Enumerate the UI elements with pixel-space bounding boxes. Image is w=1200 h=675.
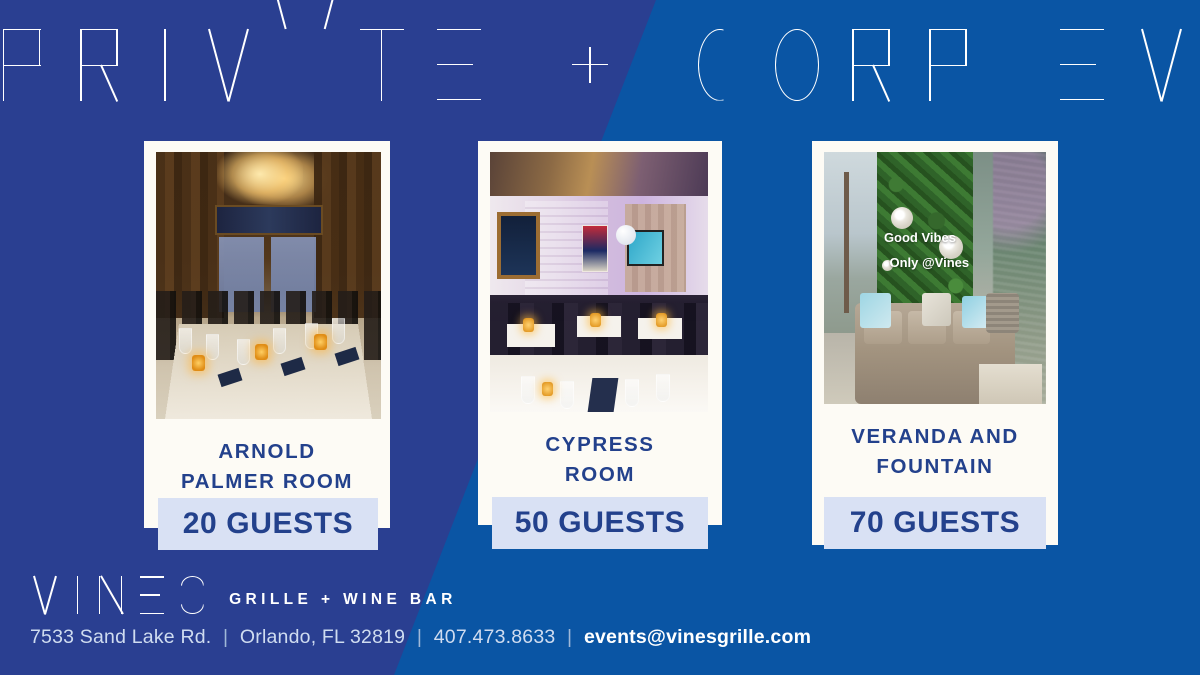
- room-name-line2: ROOM: [478, 460, 722, 490]
- room-card[interactable]: ARNOLD PALMER ROOM: [144, 141, 390, 528]
- page-title: [0, 24, 1200, 101]
- logo-glyph-N: [99, 576, 124, 614]
- room-name-line2: PALMER ROOM: [144, 467, 390, 497]
- title-glyph-T: [360, 29, 406, 101]
- title-glyph-A: [282, 29, 328, 101]
- room-name: VERANDA AND FOUNTAIN: [812, 422, 1058, 483]
- title-glyph-C: [697, 29, 743, 101]
- brand-lockup: GRILLE + WINE BAR: [30, 576, 811, 614]
- street-address: 7533 Sand Lake Rd.: [30, 626, 211, 648]
- arnold-palmer-room-photo: [156, 152, 381, 419]
- title-glyph-R: [80, 29, 126, 101]
- logo-glyph-S: [181, 576, 206, 614]
- title-glyph-O: [774, 29, 820, 101]
- room-name: CYPRESS ROOM: [478, 430, 722, 491]
- room-cards: ARNOLD PALMER ROOM 20 GUESTS: [0, 0, 1200, 675]
- room-name: ARNOLD PALMER ROOM: [144, 437, 390, 498]
- title-glyph-plus: [568, 29, 612, 101]
- veranda-and-fountain-photo: Good Vibes Only @Vines: [824, 152, 1046, 404]
- phone-number[interactable]: 407.473.8633: [434, 626, 556, 648]
- room-card[interactable]: CYPRESS ROOM: [478, 141, 722, 525]
- title-glyph-V: [205, 29, 251, 101]
- city-state-zip: Orlando, FL 32819: [240, 626, 405, 648]
- contact-line: 7533 Sand Lake Rd. | Orlando, FL 32819 |…: [30, 626, 811, 649]
- capacity-badge: 70 GUESTS: [824, 497, 1046, 549]
- title-glyph-space: [1007, 29, 1029, 101]
- email-address[interactable]: events@vinesgrille.com: [584, 626, 811, 648]
- title-glyph-R: [852, 29, 898, 101]
- separator: |: [561, 626, 578, 648]
- title-glyph-I: [157, 29, 173, 101]
- room-name-line2: FOUNTAIN: [812, 452, 1058, 482]
- logo-glyph-V: [32, 576, 57, 614]
- title-glyph-V: [1138, 29, 1184, 101]
- room-name-line1: CYPRESS: [478, 430, 722, 460]
- capacity-badge: 50 GUESTS: [492, 497, 708, 549]
- room-name-line1: VERANDA AND: [812, 422, 1058, 452]
- moss-wall-sign-line1: Good Vibes: [884, 230, 956, 245]
- vines-wordmark: [30, 576, 207, 614]
- capacity-badge: 20 GUESTS: [158, 498, 378, 550]
- footer: GRILLE + WINE BAR 7533 Sand Lake Rd. | O…: [30, 576, 811, 649]
- logo-glyph-I: [73, 576, 83, 614]
- separator: |: [217, 626, 234, 648]
- title-glyph-space: [515, 29, 537, 101]
- title-glyph-E: [437, 29, 483, 101]
- page-title-text: [0, 24, 1200, 101]
- title-glyph-P: [3, 29, 49, 101]
- brand-tagline: GRILLE + WINE BAR: [229, 591, 457, 614]
- moss-wall-sign-line2: Only @Vines: [889, 255, 969, 270]
- separator: |: [411, 626, 428, 648]
- title-glyph-P: [929, 29, 975, 101]
- event-flyer: ARNOLD PALMER ROOM 20 GUESTS: [0, 0, 1200, 675]
- title-glyph-E: [1060, 29, 1106, 101]
- room-card[interactable]: Good Vibes Only @Vines VERANDA AND FOUNT…: [812, 141, 1058, 545]
- room-name-line1: ARNOLD: [144, 437, 390, 467]
- logo-glyph-E: [140, 576, 165, 614]
- cypress-room-photo: [490, 152, 708, 412]
- title-glyph-space: [644, 29, 666, 101]
